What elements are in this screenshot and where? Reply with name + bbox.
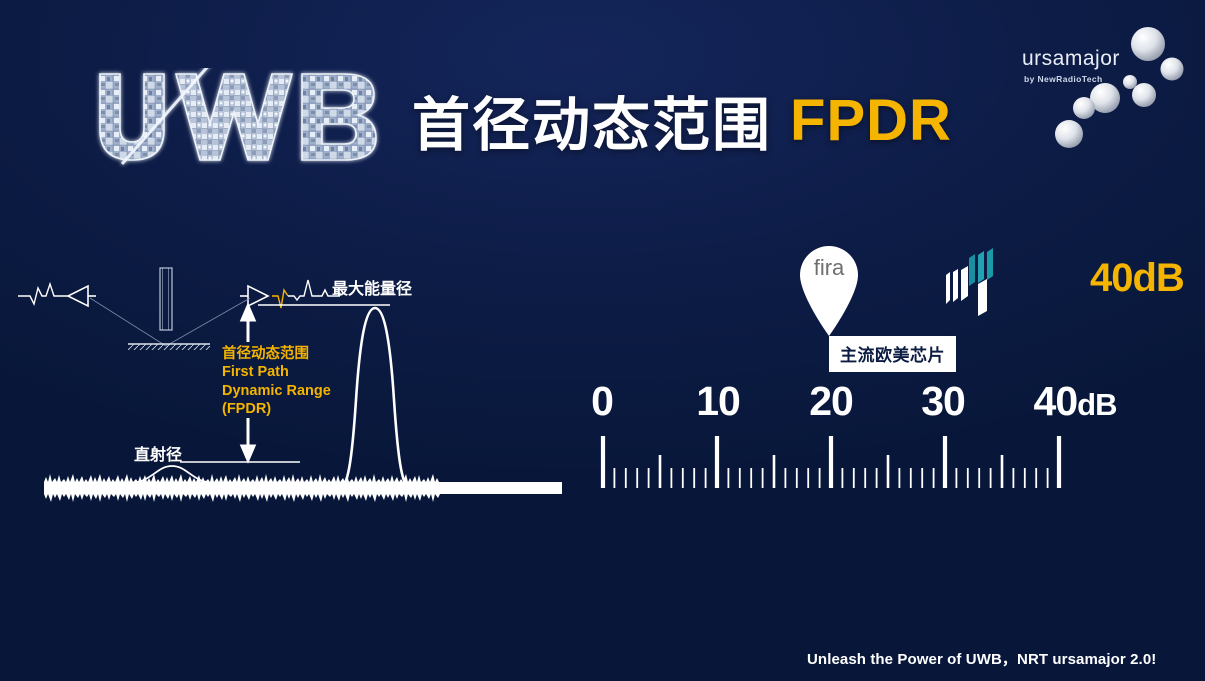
wall-obstacle-icon	[160, 268, 172, 330]
fpdr-annotation-en-2: Dynamic Range	[222, 382, 358, 400]
fpdr-annotation: 首径动态范围 First Path Dynamic Range (FPDR)	[222, 345, 358, 418]
antenna-receive-icon	[68, 286, 96, 306]
direct-path-label: 直射径	[134, 441, 182, 465]
nrt-bars-icon	[940, 248, 996, 320]
brand-wordmark: ursamajor	[1022, 47, 1120, 71]
fira-wordmark: fira	[805, 255, 853, 281]
antenna-transmit-icon	[240, 286, 268, 306]
page-title: 首径动态范围 FPDR	[412, 78, 952, 162]
uwb-wordmark-graphic	[92, 68, 392, 168]
fpdr-annotation-en-3: (FPDR)	[222, 400, 358, 418]
fpdr-annotation-cn: 首径动态范围	[222, 345, 358, 363]
callout-40db: 40dB	[1090, 256, 1184, 301]
fpdr-annotation-en-1: First Path	[222, 363, 358, 381]
tx-waveform-icon	[18, 284, 68, 304]
fira-pin-marker[interactable]	[790, 238, 868, 338]
partner-logo	[940, 248, 996, 320]
rx-waveform-icon	[272, 280, 340, 308]
brand-subwordmark: by NewRadioTech	[1024, 74, 1103, 84]
slide-root: ursamajor by NewRadioTech	[0, 0, 1205, 681]
chipset-badge: 主流欧美芯片	[829, 336, 956, 372]
page-title-en: FPDR	[790, 87, 952, 154]
big-dipper-icon	[1012, 22, 1197, 157]
footer-tagline: Unleash the Power of UWB，NRT ursamajor 2…	[807, 648, 1156, 669]
map-pin-icon	[790, 238, 868, 338]
page-title-cn: 首径动态范围	[412, 78, 772, 162]
noise-floor-band	[44, 466, 562, 502]
peak-label: 最大能量径	[332, 275, 412, 299]
ground-reflector-icon	[128, 344, 210, 350]
db-scale-ruler	[575, 370, 1095, 495]
brand-logo: ursamajor by NewRadioTech	[1012, 22, 1197, 157]
